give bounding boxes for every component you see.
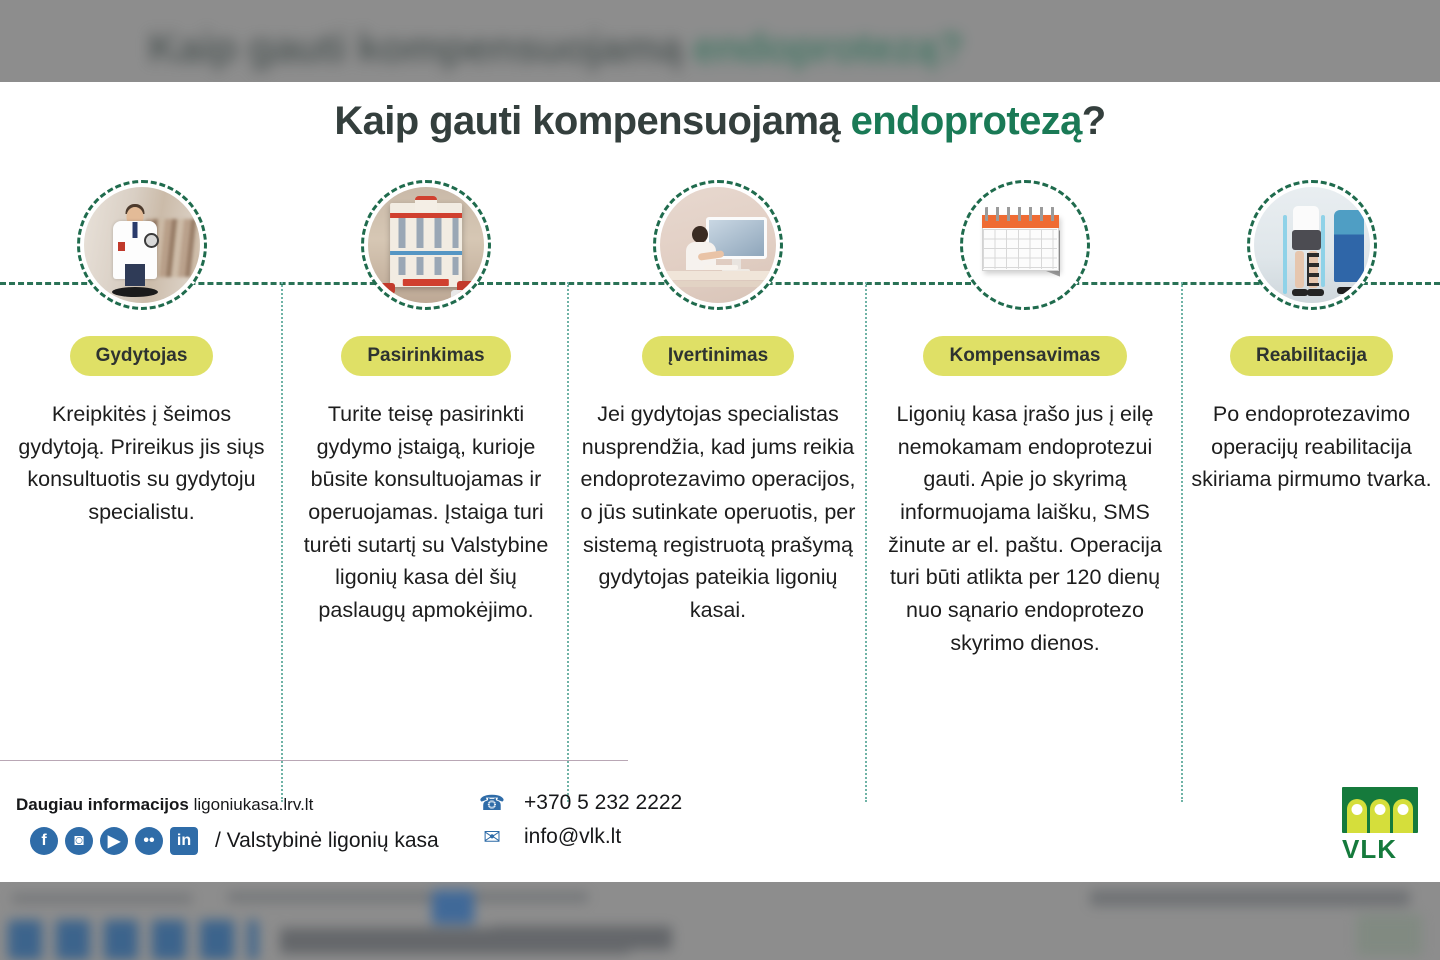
step-description: Po endoprotezavimo operacijų reabilitaci…	[1191, 398, 1432, 496]
footer-divider	[0, 760, 628, 761]
step-description: Ligonių kasa įrašo jus į eilę nemokamam …	[875, 398, 1175, 659]
step-column-ivertinimas: Įvertinimas Jei gydytojas specialistas n…	[569, 202, 867, 842]
rehabilitation-patient-image	[1247, 180, 1377, 310]
vlk-logo-mark	[1342, 787, 1418, 833]
footer: Daugiau informacijos ligoniukasa.lrv.lt …	[0, 777, 1440, 882]
step-badge: Gydytojas	[70, 336, 214, 376]
infographic-card: Kaip gauti kompensuojamą endoprotezą? Gy…	[0, 82, 1440, 882]
phone-icon: ☎	[478, 791, 506, 815]
vlk-logo: VLK	[1342, 787, 1422, 862]
title-accent-part: endoprotezą	[851, 99, 1082, 143]
background-ghost-title: Kaip gauti kompensuojamą endoprotezą?	[148, 24, 1048, 76]
instagram-icon[interactable]: ◙	[65, 827, 93, 855]
step-description: Kreipkitės į šeimos gydytoją. Prireikus …	[8, 398, 275, 529]
more-info-label: Daugiau informacijos	[16, 795, 189, 814]
facebook-icon[interactable]: f	[30, 827, 58, 855]
step-badge: Pasirinkimas	[341, 336, 510, 376]
social-links-row: f ◙ ▶ •• in / Valstybinė ligonių kasa	[30, 827, 439, 855]
step-column-kompensavimas: Kompensavimas Ligonių kasa įrašo jus į e…	[867, 202, 1183, 842]
title-question-mark: ?	[1082, 99, 1106, 143]
background-ghost-footer	[0, 880, 1440, 960]
more-info-line: Daugiau informacijos ligoniukasa.lrv.lt	[16, 795, 313, 815]
website-link[interactable]: ligoniukasa.lrv.lt	[194, 795, 314, 814]
vlk-logo-wordmark: VLK	[1342, 836, 1422, 862]
step-badge: Įvertinimas	[642, 336, 794, 376]
desk-calendar-image	[960, 180, 1090, 310]
flickr-icon[interactable]: ••	[135, 827, 163, 855]
step-badge: Kompensavimas	[923, 336, 1126, 376]
steps-row: Gydytojas Kreipkitės į šeimos gydytoją. …	[0, 202, 1440, 842]
social-handle-label: / Valstybinė ligonių kasa	[215, 829, 439, 853]
step-badge: Reabilitacija	[1230, 336, 1393, 376]
contact-block: ☎ +370 5 232 2222 ✉ info@vlk.lt	[478, 791, 682, 859]
envelope-icon: ✉	[478, 825, 506, 849]
phone-row: ☎ +370 5 232 2222	[478, 791, 682, 815]
step-description: Turite teisę pasirinkti gydymo įstaigą, …	[291, 398, 561, 627]
linkedin-icon[interactable]: in	[170, 827, 198, 855]
step-column-pasirinkimas: Pasirinkimas Turite teisę pasirinkti gyd…	[283, 202, 569, 842]
person-at-computer-image	[653, 180, 783, 310]
title-plain-part: Kaip gauti kompensuojamą	[334, 99, 850, 143]
step-column-reabilitacija: Reabilitacija Po endoprotezavimo operaci…	[1183, 202, 1440, 842]
step-description: Jei gydytojas specialistas nusprendžia, …	[577, 398, 859, 627]
hospital-building-image	[361, 180, 491, 310]
step-column-gydytojas: Gydytojas Kreipkitės į šeimos gydytoją. …	[0, 202, 283, 842]
email-address[interactable]: info@vlk.lt	[524, 825, 621, 849]
doctor-figurine-image	[77, 180, 207, 310]
page-title: Kaip gauti kompensuojamą endoprotezą?	[0, 99, 1440, 144]
phone-number[interactable]: +370 5 232 2222	[524, 791, 682, 815]
youtube-icon[interactable]: ▶	[100, 827, 128, 855]
email-row: ✉ info@vlk.lt	[478, 825, 682, 849]
